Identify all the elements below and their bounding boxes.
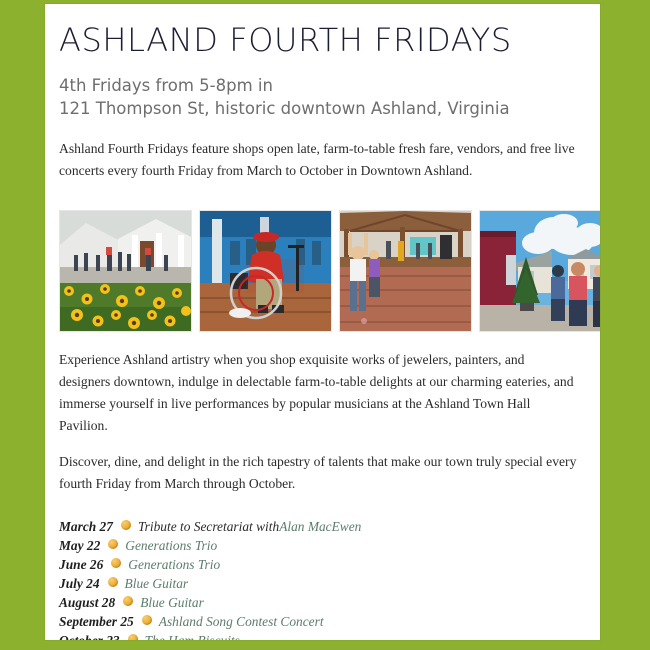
event-performer-name: Blue Guitar xyxy=(140,593,204,612)
list-item[interactable]: August 28 Blue Guitar xyxy=(59,593,580,612)
list-item[interactable]: March 27 Tribute to Secretariat with Ala… xyxy=(59,517,580,536)
list-item[interactable]: October 23 The Ham Biscuits xyxy=(59,631,580,640)
gold-dot-icon xyxy=(111,558,121,568)
photo-dancers-at-pavilion[interactable] xyxy=(339,210,472,332)
event-schedule-list: March 27 Tribute to Secretariat with Ala… xyxy=(59,517,580,640)
gold-dot-icon xyxy=(108,577,118,587)
content-card: ASHLAND FOURTH FRIDAYS 4th Fridays from … xyxy=(45,4,600,640)
list-item[interactable]: June 26 Generations Trio xyxy=(59,555,580,574)
photo-street-scene[interactable] xyxy=(479,210,600,332)
list-item[interactable]: July 24 Blue Guitar xyxy=(59,574,580,593)
experience-paragraph: Experience Ashland artistry when you sho… xyxy=(59,349,579,437)
gold-dot-icon xyxy=(108,539,118,549)
gold-dot-icon xyxy=(128,634,138,640)
event-lead-text: Tribute to Secretariat with xyxy=(138,517,279,536)
discover-paragraph: Discover, dine, and delight in the rich … xyxy=(59,451,579,495)
event-date: March 27 xyxy=(59,517,113,536)
event-performer-name: Generations Trio xyxy=(128,555,220,574)
intro-paragraph: Ashland Fourth Fridays feature shops ope… xyxy=(59,138,579,182)
event-performer-name: Ashland Song Contest Concert xyxy=(159,612,324,631)
card-inner: ASHLAND FOURTH FRIDAYS 4th Fridays from … xyxy=(45,4,600,640)
event-performer-name: Blue Guitar xyxy=(125,574,189,593)
event-performer-name: The Ham Biscuits xyxy=(145,631,240,640)
list-item[interactable]: May 22 Generations Trio xyxy=(59,536,580,555)
event-performer-name: Generations Trio xyxy=(125,536,217,555)
event-subtitle: 4th Fridays from 5-8pm in 121 Thompson S… xyxy=(59,75,580,121)
event-performer-link[interactable]: Alan MacEwen xyxy=(279,517,361,536)
page-title: ASHLAND FOURTH FRIDAYS xyxy=(59,22,580,59)
photo-crowd-with-sunflowers[interactable] xyxy=(59,210,192,332)
photo-musician-in-wheelchair[interactable] xyxy=(199,210,332,332)
subtitle-line-1: 4th Fridays from 5-8pm in xyxy=(59,75,580,98)
photo-gallery xyxy=(59,210,580,332)
list-item[interactable]: September 25 Ashland Song Contest Concer… xyxy=(59,612,580,631)
gold-dot-icon xyxy=(121,520,131,530)
event-date: September 25 xyxy=(59,612,134,631)
gold-dot-icon xyxy=(142,615,152,625)
event-date: October 23 xyxy=(59,631,120,640)
event-date: May 22 xyxy=(59,536,100,555)
event-date: July 24 xyxy=(59,574,100,593)
subtitle-line-2: 121 Thompson St, historic downtown Ashla… xyxy=(59,98,580,121)
event-date: August 28 xyxy=(59,593,115,612)
gold-dot-icon xyxy=(123,596,133,606)
event-date: June 26 xyxy=(59,555,103,574)
